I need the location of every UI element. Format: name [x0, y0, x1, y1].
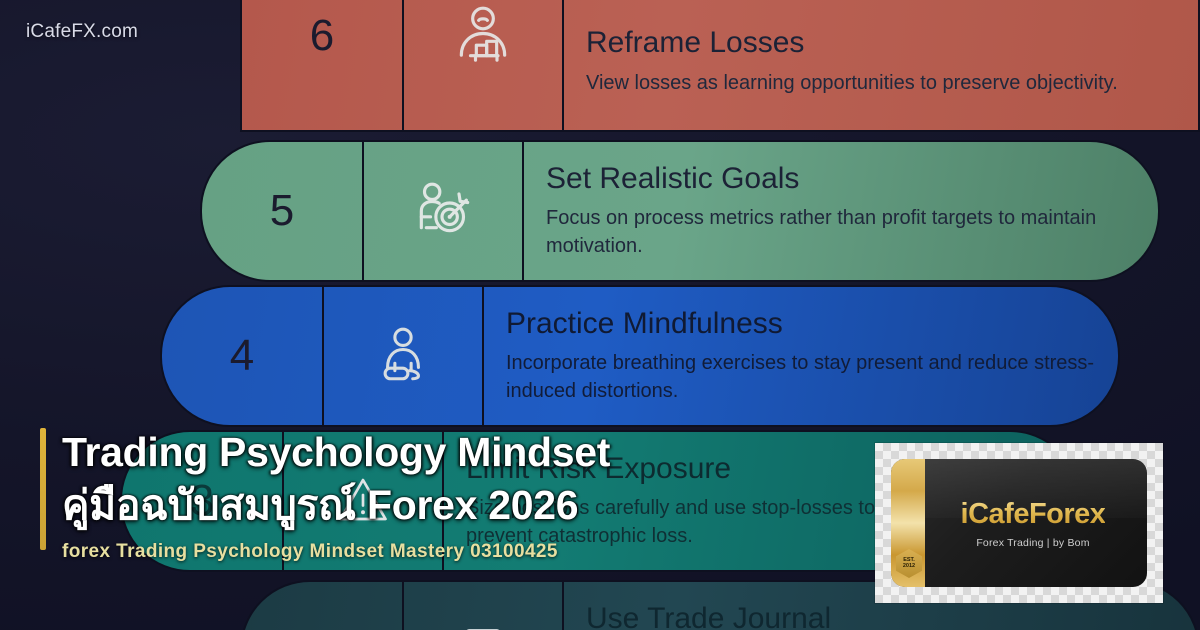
step-description: Incorporate breathing exercises to stay …: [506, 350, 1098, 405]
step-body: Set Realistic Goals Focus on process met…: [522, 142, 1158, 280]
step-row-6[interactable]: 6 Reframe Losses View losses as learning…: [240, 0, 1200, 132]
step-row-4[interactable]: 4 Practice Mindfulness Incorporate breat…: [160, 285, 1120, 427]
logo-card: EST. 2012 iCafeForex Forex Trading | by …: [875, 443, 1163, 603]
page-title-line-1: Trading Psychology Mindset: [62, 426, 880, 479]
established-year: 2012: [903, 564, 915, 570]
logo-brand-name: iCafeForex: [961, 498, 1106, 531]
person-meditating-icon: [322, 287, 482, 425]
step-row-5[interactable]: 5 Set Realistic Goals Focus on process m…: [200, 140, 1160, 282]
step-title: Use Trade Journal: [586, 602, 1178, 630]
person-with-target-icon: [362, 142, 522, 280]
step-body: Practice Mindfulness Incorporate breathi…: [482, 287, 1118, 425]
title-accent-bar: [40, 428, 46, 550]
infographic-canvas: 2 Use Trade Journal Record every trade w…: [0, 0, 1200, 630]
step-number: 4: [162, 287, 322, 425]
step-title: Reframe Losses: [586, 26, 1178, 61]
step-number: 2: [242, 582, 402, 630]
page-title-line-2: คู่มือฉบับสมบูรณ์ Forex 2026: [62, 479, 880, 532]
person-at-desk-icon: [402, 0, 562, 130]
title-block: Trading Psychology Mindset คู่มือฉบับสมบ…: [40, 426, 880, 563]
step-title: Set Realistic Goals: [546, 162, 1138, 197]
step-title: Practice Mindfulness: [506, 307, 1098, 342]
step-description: Focus on process metrics rather than pro…: [546, 205, 1138, 260]
journal-icon: [402, 582, 562, 630]
step-number: 5: [202, 142, 362, 280]
logo-inner: EST. 2012 iCafeForex Forex Trading | by …: [891, 459, 1147, 587]
page-subtitle: forex Trading Psychology Mindset Mastery…: [40, 541, 880, 563]
title-text-group: Trading Psychology Mindset คู่มือฉบับสมบ…: [40, 426, 880, 533]
logo-tagline: Forex Trading | by Bom: [961, 537, 1106, 549]
step-description: View losses as learning opportunities to…: [586, 70, 1178, 98]
step-body: Reframe Losses View losses as learning o…: [562, 0, 1198, 130]
step-number: 6: [242, 0, 402, 130]
logo-text-group: iCafeForex Forex Trading | by Bom: [961, 498, 1106, 549]
site-watermark: iCafeFX.com: [26, 21, 138, 43]
